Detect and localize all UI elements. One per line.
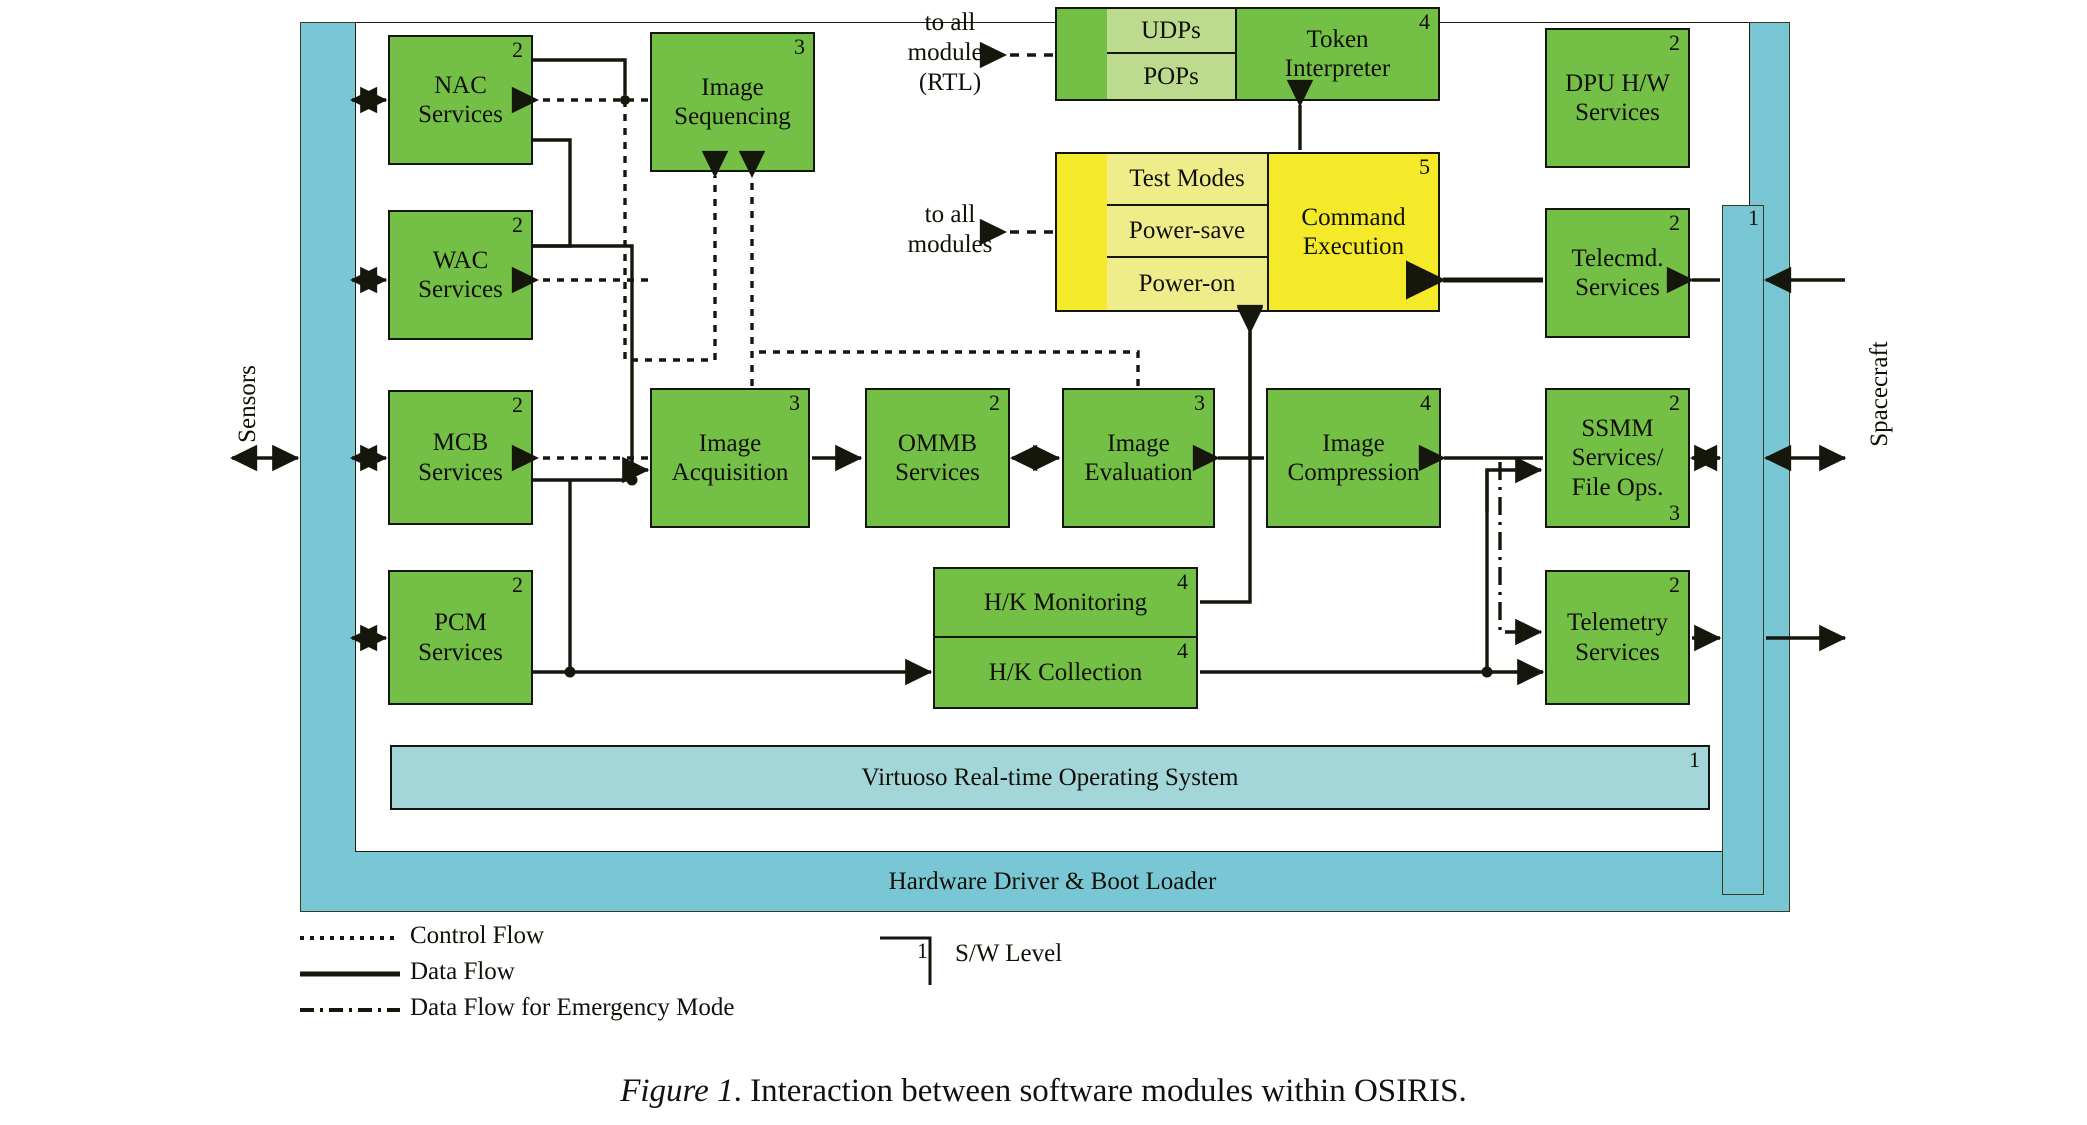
module-telemetry-services[interactable]: Telemetry Services 2: [1545, 570, 1690, 705]
hk-row-label: H/K Collection: [989, 659, 1142, 687]
token-interpreter-level: 4: [1419, 11, 1430, 33]
module-label-line1: SSMM: [1581, 414, 1653, 444]
module-telecmd-services[interactable]: Telecmd. Services 2: [1545, 208, 1690, 338]
module-nac-services[interactable]: NAC Services 2: [388, 35, 533, 165]
module-level: 2: [512, 39, 523, 61]
command-execution-group[interactable]: Test Modes Power-save Power-on Command E…: [1055, 152, 1440, 312]
os-layer-level: 1: [1689, 749, 1700, 771]
figure-caption: Figure 1. Interaction between software m…: [0, 1073, 2087, 1110]
module-label-line1: DPU H/W: [1565, 69, 1670, 99]
figure-canvas: Hardware Driver & Boot Loader 1 Sensors …: [0, 0, 2087, 1125]
module-label-line1: Image: [701, 73, 763, 103]
module-label-line2: Services: [1575, 273, 1660, 303]
note-line1: to all: [845, 8, 1055, 38]
hk-row-level: 4: [1177, 571, 1188, 593]
token-interpreter-line1: Token: [1306, 25, 1368, 55]
sensors-label-text: Sensors: [234, 324, 262, 484]
module-pcm-services[interactable]: PCM Services 2: [388, 570, 533, 705]
note-line2: modules: [845, 230, 1055, 260]
module-image-sequencing[interactable]: Image Sequencing 3: [650, 32, 815, 172]
module-label-line2: Services: [418, 275, 503, 305]
module-label-line1: Image: [1107, 429, 1169, 459]
housekeeping-group[interactable]: H/K Monitoring 4 H/K Collection 4: [933, 567, 1198, 709]
module-label-line1: Telecmd.: [1572, 244, 1664, 274]
token-cell-pops[interactable]: POPs: [1107, 54, 1235, 99]
os-layer-label: Virtuoso Real-time Operating System: [862, 764, 1239, 792]
legend-label-data-flow-emergency: Data Flow for Emergency Mode: [410, 994, 734, 1022]
spacecraft-label: Spacecraft: [1800, 380, 1960, 420]
module-label-line3: File Ops.: [1572, 473, 1664, 503]
figure-caption-label: Figure 1: [620, 1073, 733, 1109]
spacecraft-label-text: Spacecraft: [1866, 314, 1894, 474]
token-cell-label: UDPs: [1141, 17, 1201, 45]
command-execution-body[interactable]: Command Execution 5: [1267, 154, 1438, 310]
hk-row-monitoring[interactable]: H/K Monitoring 4: [935, 569, 1196, 638]
software-frame: [355, 22, 1750, 852]
legend-label-data-flow: Data Flow: [410, 958, 515, 986]
note-to-all-modules: to all modules: [845, 200, 1055, 260]
command-cell-power-save[interactable]: Power-save: [1107, 206, 1267, 258]
module-label-line2: Sequencing: [674, 102, 791, 132]
hk-row-level: 4: [1177, 640, 1188, 662]
figure-caption-text: . Interaction between software modules w…: [734, 1073, 1467, 1109]
legend-label-control-flow: Control Flow: [410, 922, 544, 950]
token-interpreter-body[interactable]: Token Interpreter 4: [1235, 9, 1438, 99]
note-line3: (RTL): [845, 68, 1055, 98]
module-label-line1: MCB: [433, 428, 489, 458]
module-label-line1: Image: [1322, 429, 1384, 459]
token-cell-label: POPs: [1143, 63, 1199, 91]
module-level: 2: [512, 214, 523, 236]
module-label-line2: Evaluation: [1084, 458, 1192, 488]
module-label-line2: Services: [895, 458, 980, 488]
module-ssmm-services-file-ops[interactable]: SSMM Services/ File Ops. 2 3: [1545, 388, 1690, 528]
module-label-line2: Services: [1575, 98, 1660, 128]
spacecraft-frame-level: 1: [1748, 207, 1759, 229]
command-execution-cells: Test Modes Power-save Power-on: [1107, 154, 1267, 310]
hardware-driver-layer: Hardware Driver & Boot Loader: [355, 852, 1750, 912]
token-interpreter-cells: UDPs POPs: [1107, 9, 1235, 99]
command-cell-label: Power-on: [1139, 270, 1236, 298]
module-label-line1: NAC: [434, 71, 487, 101]
module-label-line1: Telemetry: [1567, 608, 1668, 638]
module-level: 2: [1669, 32, 1680, 54]
module-level: 2: [1669, 212, 1680, 234]
module-label-line1: OMMB: [898, 429, 977, 459]
legend-sw-level-number: 1: [917, 938, 928, 964]
hk-row-collection[interactable]: H/K Collection 4: [935, 638, 1196, 707]
note-to-all-modules-rtl: to all modules (RTL): [845, 8, 1055, 98]
command-cell-label: Test Modes: [1129, 165, 1245, 193]
module-wac-services[interactable]: WAC Services 2: [388, 210, 533, 340]
module-level: 4: [1420, 392, 1431, 414]
module-level: 2: [512, 574, 523, 596]
module-image-acquisition[interactable]: Image Acquisition 3: [650, 388, 810, 528]
module-level: 2: [1669, 574, 1680, 596]
module-level: 2: [1669, 392, 1680, 414]
note-line2: modules: [845, 38, 1055, 68]
spacecraft-frame: 1: [1722, 205, 1764, 895]
command-cell-label: Power-save: [1129, 217, 1245, 245]
module-level: 3: [1194, 392, 1205, 414]
token-interpreter-group[interactable]: UDPs POPs Token Interpreter 4: [1055, 7, 1440, 101]
command-execution-line2: Execution: [1303, 232, 1404, 262]
module-image-compression[interactable]: Image Compression 4: [1266, 388, 1441, 528]
module-label-line2: Compression: [1288, 458, 1420, 488]
module-level: 2: [512, 394, 523, 416]
command-execution-left-pad: [1057, 154, 1107, 310]
os-layer: Virtuoso Real-time Operating System 1: [390, 745, 1710, 810]
module-level: 3: [789, 392, 800, 414]
module-level: 2: [989, 392, 1000, 414]
token-interpreter-left-pad: [1057, 9, 1107, 99]
module-dpu-hw-services[interactable]: DPU H/W Services 2: [1545, 28, 1690, 168]
hk-row-label: H/K Monitoring: [984, 589, 1147, 617]
module-label-line2: Acquisition: [672, 458, 789, 488]
module-label-line1: Image: [699, 429, 761, 459]
module-ommb-services[interactable]: OMMB Services 2: [865, 388, 1010, 528]
note-line1: to all: [845, 200, 1055, 230]
module-level-secondary: 3: [1669, 502, 1680, 524]
command-execution-line1: Command: [1301, 203, 1405, 233]
module-label-line1: WAC: [433, 246, 489, 276]
sensors-label: Sensors: [168, 390, 328, 430]
command-cell-test-modes[interactable]: Test Modes: [1107, 154, 1267, 206]
module-label-line2: Services: [418, 100, 503, 130]
command-cell-power-on[interactable]: Power-on: [1107, 258, 1267, 310]
module-image-evaluation[interactable]: Image Evaluation 3: [1062, 388, 1215, 528]
token-cell-udps[interactable]: UDPs: [1107, 9, 1235, 54]
module-label-line2: Services/: [1572, 443, 1664, 473]
module-label-line2: Services: [418, 638, 503, 668]
module-label-line2: Services: [418, 458, 503, 488]
command-execution-level: 5: [1419, 156, 1430, 178]
module-label-line1: PCM: [434, 608, 487, 638]
module-mcb-services[interactable]: MCB Services 2: [388, 390, 533, 525]
module-level: 3: [794, 36, 805, 58]
legend-label-sw-level: S/W Level: [955, 940, 1062, 968]
module-label-line2: Services: [1575, 638, 1660, 668]
token-interpreter-line2: Interpreter: [1285, 54, 1390, 84]
